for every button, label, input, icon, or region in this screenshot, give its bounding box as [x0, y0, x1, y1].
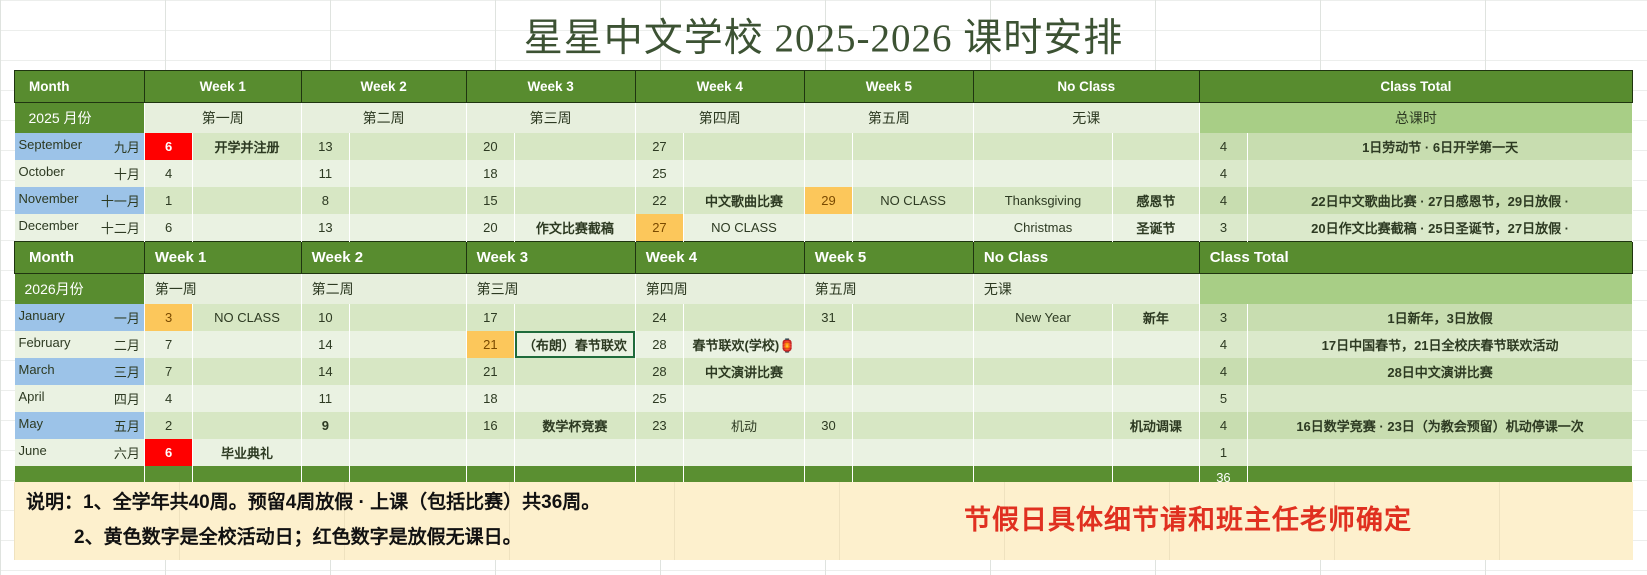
week-2-event-cell[interactable] — [350, 439, 467, 466]
week-5-date-cell[interactable] — [804, 214, 852, 242]
week-1-event-cell[interactable]: 毕业典礼 — [193, 439, 301, 466]
table-row: June六月6毕业典礼1 — [15, 439, 1633, 466]
class-total-count-cell[interactable]: 4 — [1199, 331, 1247, 358]
week-1-event-cell[interactable] — [193, 385, 301, 412]
week-4-date-cell[interactable]: 22 — [635, 187, 683, 214]
class-total-note-cell[interactable] — [1248, 385, 1633, 412]
week-1-event-cell[interactable] — [193, 214, 301, 242]
class-total-count-cell[interactable]: 4 — [1199, 412, 1247, 439]
week-1-date-cell[interactable]: 1 — [144, 187, 192, 214]
week-1-date-cell[interactable]: 7 — [144, 358, 192, 385]
week-5-event-cell[interactable]: NO CLASS — [853, 187, 974, 214]
table-row: January一月3NO CLASS10172431New Year新年31日新… — [15, 304, 1633, 331]
no-class-cn-cell[interactable]: 圣诞节 — [1113, 214, 1200, 242]
class-total-count-cell[interactable]: 5 — [1199, 385, 1247, 412]
no-class-en-cell[interactable] — [973, 160, 1112, 187]
header-week-5[interactable]: Week 5 — [804, 242, 973, 274]
week-3-date-cell[interactable]: 20 — [466, 214, 514, 242]
week-5-event-cell[interactable] — [853, 439, 974, 466]
week-3-date-cell[interactable]: 17 — [466, 304, 514, 331]
week-5-event-cell[interactable] — [853, 358, 974, 385]
subheader-row-1: 2025 月份第一周第二周第三周第四周第五周无课总课时 — [15, 103, 1633, 134]
class-total-note-cell[interactable]: 1日劳动节 · 6日开学第一天 — [1248, 133, 1633, 160]
subheader-year-label[interactable]: 2026月份 — [15, 274, 145, 305]
week-2-date-cell[interactable]: 14 — [301, 331, 349, 358]
month-cell[interactable]: January一月 — [15, 304, 145, 331]
subheader-week-1[interactable]: 第一周 — [144, 274, 301, 305]
week-1-date-cell[interactable]: 3 — [144, 304, 192, 331]
month-cell[interactable]: December十二月 — [15, 214, 145, 242]
week-1-event-cell[interactable] — [193, 187, 301, 214]
week-1-event-cell[interactable]: 开学并注册 — [193, 133, 301, 160]
subheader-week-3[interactable]: 第三周 — [466, 103, 635, 134]
week-5-date-cell[interactable]: 31 — [804, 304, 852, 331]
subheader-class-total[interactable] — [1199, 274, 1632, 305]
week-3-event-cell[interactable] — [515, 160, 636, 187]
week-2-date-cell[interactable]: 13 — [301, 133, 349, 160]
header-no-class[interactable]: No Class — [973, 242, 1199, 274]
month-cell[interactable]: February二月 — [15, 331, 145, 358]
week-1-event-cell[interactable] — [193, 358, 301, 385]
week-5-date-cell[interactable]: 30 — [804, 412, 852, 439]
header-month-label[interactable]: Month — [15, 71, 145, 103]
week-5-date-cell[interactable] — [804, 385, 852, 412]
week-2-event-cell[interactable] — [350, 133, 467, 160]
month-name-cn: 二月 — [114, 335, 140, 354]
subheader-year-label[interactable]: 2025 月份 — [15, 103, 145, 134]
no-class-cn-cell[interactable] — [1113, 385, 1200, 412]
no-class-en-cell[interactable] — [973, 412, 1112, 439]
week-4-event-cell[interactable] — [684, 439, 805, 466]
month-cell[interactable]: October十月 — [15, 160, 145, 187]
week-4-event-cell[interactable]: 春节联欢(学校)🏮 — [684, 331, 805, 358]
month-name-cn: 一月 — [114, 308, 140, 327]
header-week-3[interactable]: Week 3 — [466, 242, 635, 274]
month-name-cn: 三月 — [114, 362, 140, 381]
week-4-date-cell[interactable]: 27 — [635, 214, 683, 242]
table-row: September九月6开学并注册13202741日劳动节 · 6日开学第一天 — [15, 133, 1633, 160]
week-2-date-cell[interactable] — [301, 439, 349, 466]
week-3-date-cell[interactable]: 20 — [466, 133, 514, 160]
week-4-event-cell[interactable] — [684, 160, 805, 187]
header-week-1[interactable]: Week 1 — [144, 71, 301, 103]
week-4-date-cell[interactable]: 25 — [635, 160, 683, 187]
week-2-event-cell[interactable] — [350, 412, 467, 439]
week-5-event-cell[interactable] — [853, 412, 974, 439]
no-class-en-cell[interactable]: Christmas — [973, 214, 1112, 242]
header-month-label[interactable]: Month — [15, 242, 145, 274]
header-class-total[interactable]: Class Total — [1199, 242, 1632, 274]
footer-note-right: 节假日具体细节请和班主任老师确定 — [964, 498, 1412, 537]
class-total-note-cell[interactable]: 16日数学竞赛 · 23日（为教会预留）机动停课一次 — [1248, 412, 1633, 439]
header-week-4[interactable]: Week 4 — [635, 242, 804, 274]
week-3-event-cell[interactable]: （布朗）春节联欢 — [515, 331, 636, 358]
week-2-date-cell[interactable]: 14 — [301, 358, 349, 385]
week-1-date-cell[interactable]: 4 — [144, 160, 192, 187]
week-3-date-cell[interactable]: 21 — [466, 358, 514, 385]
week-3-date-cell[interactable]: 15 — [466, 187, 514, 214]
no-class-en-cell[interactable] — [973, 331, 1112, 358]
week-4-date-cell[interactable]: 24 — [635, 304, 683, 331]
week-2-date-cell[interactable]: 8 — [301, 187, 349, 214]
class-total-note-cell[interactable]: 20日作文比赛截稿 · 25日圣诞节，27日放假 · — [1248, 214, 1633, 242]
week-4-event-cell[interactable] — [684, 133, 805, 160]
week-5-date-cell[interactable] — [804, 331, 852, 358]
header-week-1[interactable]: Week 1 — [144, 242, 301, 274]
subheader-week-1[interactable]: 第一周 — [144, 103, 301, 134]
table-row: October十月41118254 — [15, 160, 1633, 187]
week-5-date-cell[interactable] — [804, 160, 852, 187]
table-row: December十二月61320作文比赛截稿27NO CLASSChristma… — [15, 214, 1633, 242]
month-cell[interactable]: September九月 — [15, 133, 145, 160]
footer-notes-panel: 说明：1、全学年共40周。预留4周放假 · 上课（包括比赛）共36周。 2、黄色… — [14, 482, 1633, 560]
week-2-date-cell[interactable]: 13 — [301, 214, 349, 242]
footer-note-line-2: 2、黄色数字是全校活动日；红色数字是放假无课日。 — [74, 522, 522, 549]
month-name-cn: 十月 — [114, 164, 140, 183]
week-3-date-cell[interactable]: 16 — [466, 412, 514, 439]
month-name-cn: 九月 — [114, 137, 140, 156]
month-cell[interactable]: March三月 — [15, 358, 145, 385]
month-name-en: September — [19, 137, 83, 152]
week-4-event-cell[interactable] — [684, 385, 805, 412]
header-week-5[interactable]: Week 5 — [804, 71, 973, 103]
table-row: May五月2916数学杯竞赛23机动30机动调课416日数学竞赛 · 23日（为… — [15, 412, 1633, 439]
subheader-class-total[interactable]: 总课时 — [1199, 103, 1632, 134]
class-total-count-cell[interactable]: 4 — [1199, 187, 1247, 214]
header-no-class[interactable]: No Class — [973, 71, 1199, 103]
week-1-date-cell[interactable]: 6 — [144, 133, 192, 160]
month-name-en: November — [19, 191, 79, 206]
header-week-2[interactable]: Week 2 — [301, 71, 466, 103]
subheader-week-2[interactable]: 第二周 — [301, 274, 466, 305]
week-4-date-cell[interactable]: 23 — [635, 412, 683, 439]
week-3-event-cell[interactable] — [515, 187, 636, 214]
week-3-event-cell[interactable] — [515, 358, 636, 385]
class-total-count-cell[interactable]: 4 — [1199, 358, 1247, 385]
table-row: March三月7142128中文演讲比赛428日中文演讲比赛 — [15, 358, 1633, 385]
no-class-cn-cell[interactable] — [1113, 133, 1200, 160]
week-1-event-cell[interactable]: NO CLASS — [193, 304, 301, 331]
week-4-event-cell[interactable] — [684, 304, 805, 331]
table-row: February二月71421（布朗）春节联欢28春节联欢(学校)🏮417日中国… — [15, 331, 1633, 358]
class-total-count-cell[interactable]: 1 — [1199, 439, 1247, 466]
week-4-date-cell[interactable]: 27 — [635, 133, 683, 160]
no-class-cn-cell[interactable] — [1113, 358, 1200, 385]
month-name-en: December — [19, 218, 79, 233]
header-week-3[interactable]: Week 3 — [466, 71, 635, 103]
week-1-event-cell[interactable] — [193, 412, 301, 439]
class-total-note-cell[interactable]: 17日中国春节，21日全校庆春节联欢活动 — [1248, 331, 1633, 358]
class-total-note-cell[interactable]: 22日中文歌曲比赛 · 27日感恩节，29日放假 · — [1248, 187, 1633, 214]
no-class-cn-cell[interactable] — [1113, 160, 1200, 187]
week-3-event-cell[interactable]: 数学杯竞赛 — [515, 412, 636, 439]
table-row: April四月41118255 — [15, 385, 1633, 412]
no-class-en-cell[interactable] — [973, 439, 1112, 466]
month-name-en: April — [19, 389, 45, 404]
week-4-date-cell[interactable] — [635, 439, 683, 466]
week-3-event-cell[interactable] — [515, 304, 636, 331]
subheader-week-5[interactable]: 第五周 — [804, 274, 973, 305]
week-3-date-cell[interactable] — [466, 439, 514, 466]
month-name-en: February — [19, 335, 71, 350]
week-3-event-cell[interactable] — [515, 439, 636, 466]
header-week-4[interactable]: Week 4 — [635, 71, 804, 103]
week-2-date-cell[interactable]: 11 — [301, 160, 349, 187]
week-4-event-cell[interactable]: 机动 — [684, 412, 805, 439]
page-title: 星星中文学校 2025-2026 课时安排 — [524, 7, 1124, 63]
month-name-en: October — [19, 164, 65, 179]
subheader-week-4[interactable]: 第四周 — [635, 103, 804, 134]
class-total-count-cell[interactable]: 4 — [1199, 160, 1247, 187]
week-2-event-cell[interactable] — [350, 331, 467, 358]
month-name-en: March — [19, 362, 55, 377]
table-row: November十一月181522中文歌曲比赛29NO CLASSThanksg… — [15, 187, 1633, 214]
no-class-en-cell[interactable]: Thanksgiving — [973, 187, 1112, 214]
week-5-event-cell[interactable] — [853, 331, 974, 358]
week-1-date-cell[interactable]: 6 — [144, 214, 192, 242]
week-2-date-cell[interactable]: 11 — [301, 385, 349, 412]
week-4-event-cell[interactable]: 中文演讲比赛 — [684, 358, 805, 385]
no-class-cn-cell[interactable]: 新年 — [1113, 304, 1200, 331]
week-5-event-cell[interactable] — [853, 133, 974, 160]
week-2-date-cell[interactable]: 9 — [301, 412, 349, 439]
subheader-row-2: 2026月份第一周第二周第三周第四周第五周无课 — [15, 274, 1633, 305]
class-total-count-cell[interactable]: 3 — [1199, 304, 1247, 331]
header-class-total[interactable]: Class Total — [1199, 71, 1632, 103]
week-1-date-cell[interactable]: 7 — [144, 331, 192, 358]
week-1-event-cell[interactable] — [193, 331, 301, 358]
subheader-no-class[interactable]: 无课 — [973, 103, 1199, 134]
month-name-en: January — [19, 308, 65, 323]
month-name-en: May — [19, 416, 44, 431]
week-5-event-cell[interactable] — [853, 385, 974, 412]
no-class-cn-cell[interactable]: 机动调课 — [1113, 412, 1200, 439]
month-name-cn: 四月 — [114, 389, 140, 408]
week-2-event-cell[interactable] — [350, 187, 467, 214]
subheader-no-class[interactable]: 无课 — [973, 274, 1199, 305]
title-bar: 星星中文学校 2025-2026 课时安排 — [0, 0, 1647, 70]
week-5-date-cell[interactable] — [804, 358, 852, 385]
class-total-note-cell[interactable] — [1248, 160, 1633, 187]
no-class-en-cell[interactable] — [973, 385, 1112, 412]
no-class-en-cell[interactable]: New Year — [973, 304, 1112, 331]
week-1-event-cell[interactable] — [193, 160, 301, 187]
month-cell[interactable]: May五月 — [15, 412, 145, 439]
week-3-date-cell[interactable]: 21 — [466, 331, 514, 358]
week-5-date-cell[interactable] — [804, 439, 852, 466]
schedule-table: MonthWeek 1Week 2Week 3Week 4Week 5No Cl… — [14, 70, 1633, 488]
no-class-cn-cell[interactable]: 感恩节 — [1113, 187, 1200, 214]
subheader-week-5[interactable]: 第五周 — [804, 103, 973, 134]
week-2-event-cell[interactable] — [350, 304, 467, 331]
week-3-event-cell[interactable] — [515, 133, 636, 160]
subheader-week-4[interactable]: 第四周 — [635, 274, 804, 305]
calendar-page: 星星中文学校 2025-2026 课时安排 MonthWeek 1Week 2W… — [0, 0, 1647, 575]
month-cell[interactable]: November十一月 — [15, 187, 145, 214]
week-5-event-cell[interactable] — [853, 160, 974, 187]
subheader-week-2[interactable]: 第二周 — [301, 103, 466, 134]
month-cell[interactable]: June六月 — [15, 439, 145, 466]
class-total-note-cell[interactable]: 1日新年，3日放假 — [1248, 304, 1633, 331]
no-class-en-cell[interactable] — [973, 133, 1112, 160]
class-total-count-cell[interactable]: 3 — [1199, 214, 1247, 242]
class-total-note-cell[interactable] — [1248, 439, 1633, 466]
week-4-event-cell[interactable]: 中文歌曲比赛 — [684, 187, 805, 214]
week-4-date-cell[interactable]: 28 — [635, 331, 683, 358]
header-row-2: MonthWeek 1Week 2Week 3Week 4Week 5No Cl… — [15, 242, 1633, 274]
week-3-event-cell[interactable] — [515, 385, 636, 412]
week-5-date-cell[interactable] — [804, 133, 852, 160]
week-4-event-cell[interactable]: NO CLASS — [684, 214, 805, 242]
week-5-date-cell[interactable]: 29 — [804, 187, 852, 214]
week-5-event-cell[interactable] — [853, 304, 974, 331]
class-total-count-cell[interactable]: 4 — [1199, 133, 1247, 160]
month-cell[interactable]: April四月 — [15, 385, 145, 412]
week-1-date-cell[interactable]: 2 — [144, 412, 192, 439]
week-1-date-cell[interactable]: 6 — [144, 439, 192, 466]
month-name-cn: 十一月 — [101, 191, 140, 210]
footer-note-line-1: 说明：1、全学年共40周。预留4周放假 · 上课（包括比赛）共36周。 — [26, 487, 600, 514]
week-1-date-cell[interactable]: 4 — [144, 385, 192, 412]
week-2-date-cell[interactable]: 10 — [301, 304, 349, 331]
month-name-en: June — [19, 443, 47, 458]
no-class-cn-cell[interactable] — [1113, 439, 1200, 466]
week-3-event-cell[interactable]: 作文比赛截稿 — [515, 214, 636, 242]
week-3-date-cell[interactable]: 18 — [466, 385, 514, 412]
week-2-event-cell[interactable] — [350, 160, 467, 187]
week-2-event-cell[interactable] — [350, 214, 467, 242]
week-4-date-cell[interactable]: 25 — [635, 385, 683, 412]
week-4-date-cell[interactable]: 28 — [635, 358, 683, 385]
month-name-cn: 六月 — [114, 443, 140, 462]
header-row-1: MonthWeek 1Week 2Week 3Week 4Week 5No Cl… — [15, 71, 1633, 103]
week-2-event-cell[interactable] — [350, 358, 467, 385]
month-name-cn: 十二月 — [101, 218, 140, 237]
class-total-note-cell[interactable]: 28日中文演讲比赛 — [1248, 358, 1633, 385]
week-2-event-cell[interactable] — [350, 385, 467, 412]
week-3-date-cell[interactable]: 18 — [466, 160, 514, 187]
subheader-week-3[interactable]: 第三周 — [466, 274, 635, 305]
no-class-en-cell[interactable] — [973, 358, 1112, 385]
month-name-cn: 五月 — [114, 416, 140, 435]
header-week-2[interactable]: Week 2 — [301, 242, 466, 274]
no-class-cn-cell[interactable] — [1113, 331, 1200, 358]
week-5-event-cell[interactable] — [853, 214, 974, 242]
